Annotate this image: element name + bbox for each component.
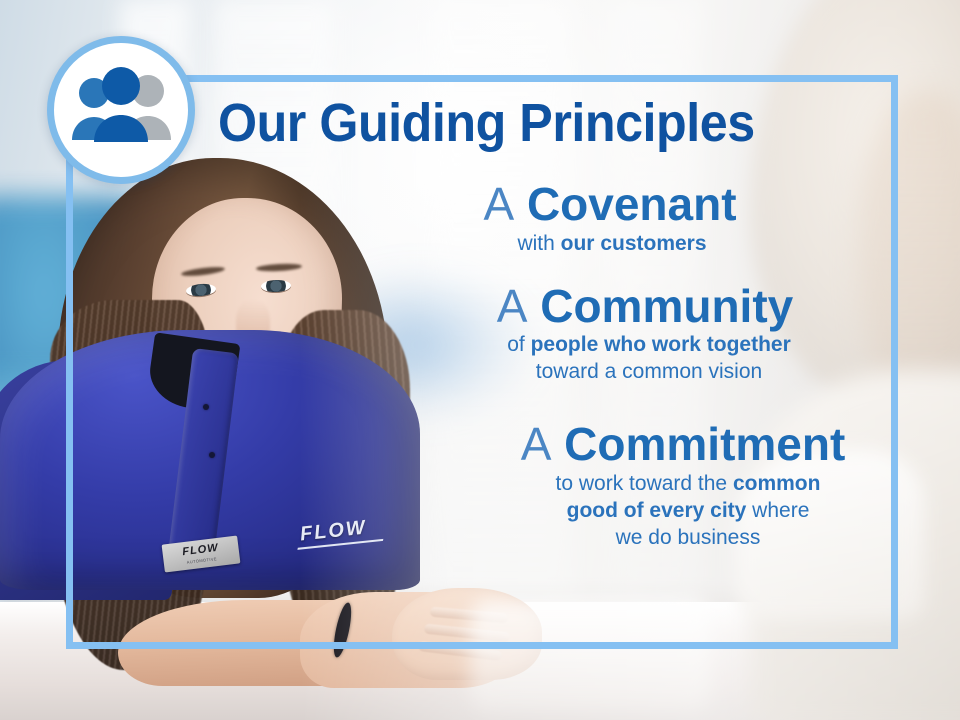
principle-article: A xyxy=(521,418,552,470)
principle-article: A xyxy=(497,280,528,332)
principle-item: A Covenant with our customers xyxy=(300,180,880,258)
emphasis-text: common xyxy=(733,472,821,495)
principle-subtitle: of people who work togethertoward a comm… xyxy=(300,332,880,386)
emphasis-text: people who work together xyxy=(531,333,791,356)
plain-text: to work toward the xyxy=(556,472,733,495)
plain-text: where xyxy=(746,499,809,522)
principle-keyword: Covenant xyxy=(527,178,737,230)
people-group-icon xyxy=(65,64,177,156)
emphasis-text: good of every city xyxy=(567,499,747,522)
plain-text: toward a common vision xyxy=(536,360,762,383)
page-title: Our Guiding Principles xyxy=(218,96,832,150)
principle-subtitle: to work toward the commongood of every c… xyxy=(300,471,880,552)
principle-title: A Commitment xyxy=(300,420,880,469)
emphasis-text: our customers xyxy=(561,232,707,255)
principle-title: A Covenant xyxy=(300,180,880,229)
plain-text: with xyxy=(517,232,560,255)
name-badge-subtext: AUTOMOTIVE xyxy=(186,556,217,565)
principle-article: A xyxy=(483,178,514,230)
principle-item: A Commitment to work toward the commongo… xyxy=(300,420,880,551)
polo-button xyxy=(203,404,209,410)
principles-list: A Covenant with our customers A Communit… xyxy=(300,180,880,556)
poster-canvas: FLOW AUTOMOTIVE FLOW Our Guiding Princ xyxy=(0,0,960,720)
principle-title: A Community xyxy=(300,282,880,331)
principle-subtitle: with our customers xyxy=(300,231,880,258)
plain-text: of xyxy=(507,333,530,356)
principle-item: A Community of people who work togethert… xyxy=(300,282,880,387)
people-group-badge xyxy=(47,36,195,184)
polo-button xyxy=(209,452,215,458)
principle-keyword: Commitment xyxy=(564,418,845,470)
foreground-blur xyxy=(470,600,710,710)
plain-text: we do business xyxy=(616,526,761,549)
principle-keyword: Community xyxy=(540,280,793,332)
